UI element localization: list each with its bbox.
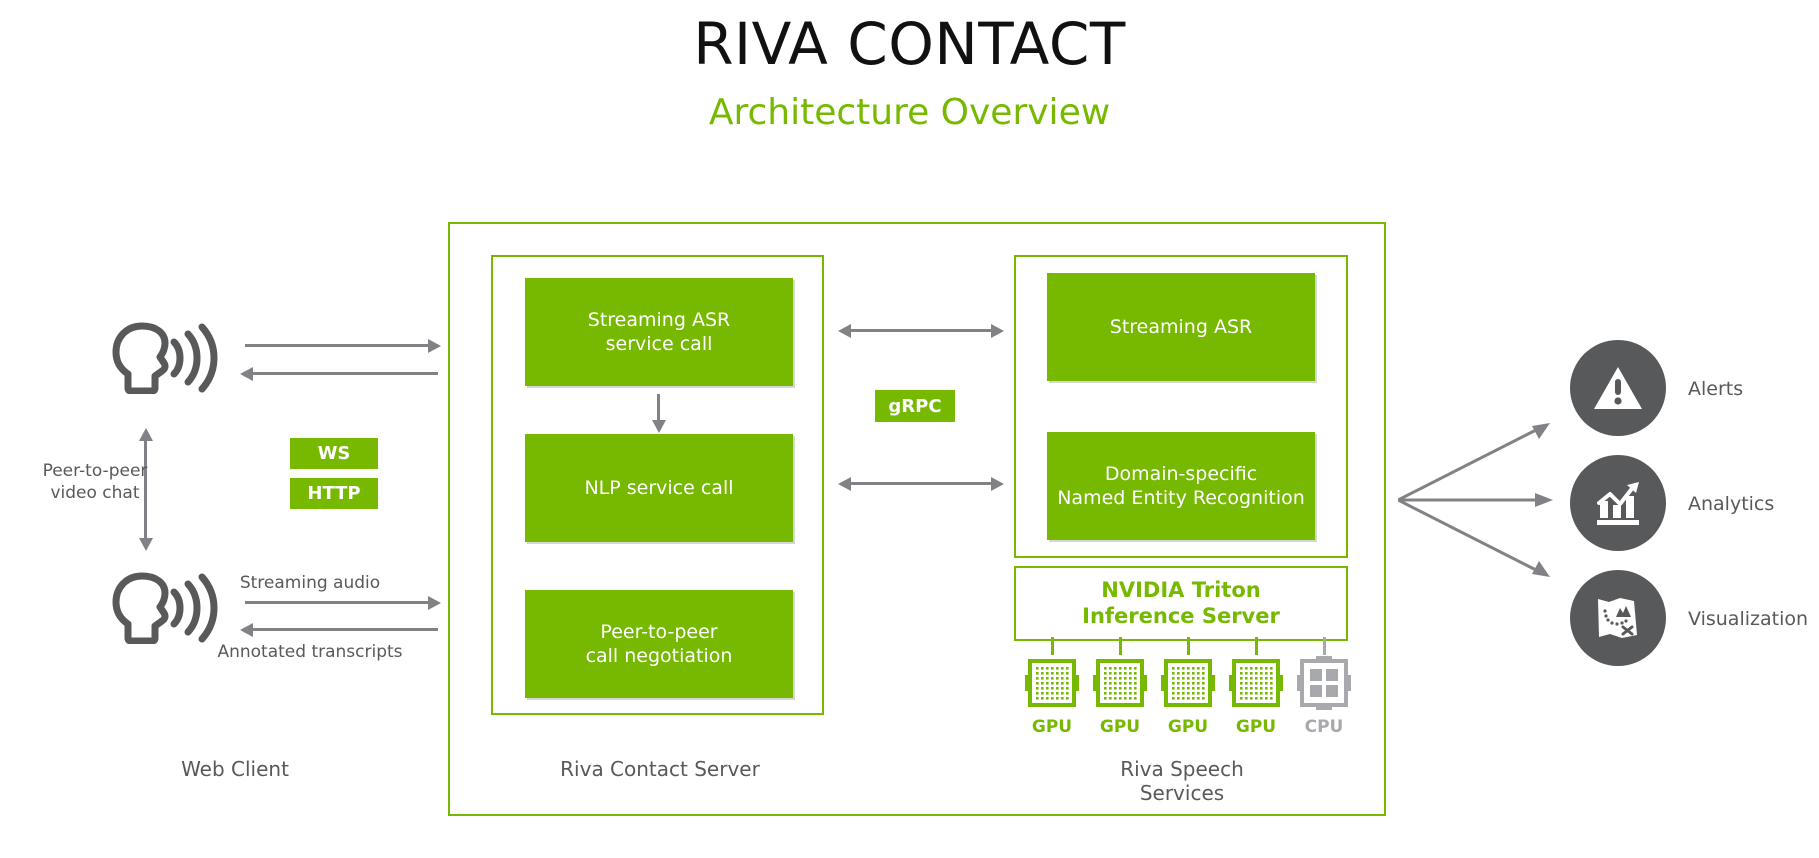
connector-cpu-1: [1323, 637, 1326, 655]
gpu-3-label: GPU: [1160, 717, 1216, 737]
streaming-asr-box: Streaming ASR: [1047, 273, 1315, 381]
ner-line2: Named Entity Recognition: [1057, 486, 1305, 510]
compute-unit-gpu-4: GPU: [1228, 655, 1284, 715]
domain-specific-ner-box: Domain-specific Named Entity Recognition: [1047, 432, 1315, 540]
gpu-2-label: GPU: [1092, 717, 1148, 737]
triton-line1: NVIDIA Triton: [1082, 578, 1280, 603]
streaming-asr-service-call-line2: service call: [588, 332, 730, 356]
page-title: RIVA CONTACT: [0, 14, 1819, 75]
arrow-head-up-peer-to-peer: [139, 428, 153, 441]
gpu-chip-icon-1: [1024, 655, 1080, 711]
nlp-service-call-line1: NLP service call: [584, 476, 733, 500]
p2p-call-negotiation-line1: Peer-to-peer: [586, 620, 733, 644]
arrow-line-asr-to-nlp: [657, 394, 660, 422]
streaming-asr-line1: Streaming ASR: [1110, 315, 1252, 339]
arrow-line-annotated-transcripts: [253, 628, 438, 631]
connector-gpu-2: [1119, 637, 1122, 655]
connector-gpu-4: [1255, 637, 1258, 655]
arrow-head-left-server-to-client: [240, 367, 253, 381]
alerts-circle-icon: [1570, 340, 1666, 436]
arrow-line-streaming-audio: [245, 601, 430, 604]
streaming-audio-label: Streaming audio: [215, 572, 405, 594]
peer-to-peer-label-line1: Peer-to-peer: [0, 460, 190, 482]
arrow-head-right-streaming-audio: [428, 596, 441, 610]
ws-chip: WS: [290, 438, 378, 469]
compute-unit-gpu-3: GPU: [1160, 655, 1216, 715]
cpu-1-label: CPU: [1296, 717, 1352, 737]
warning-triangle-icon: [1589, 359, 1647, 417]
gpu-chip-icon-4: [1228, 655, 1284, 711]
gpu-chip-icon-2: [1092, 655, 1148, 711]
arrow-head-right-grpc-asr: [991, 324, 1004, 338]
arrow-line-server-to-client: [253, 372, 438, 375]
nlp-service-call-box: NLP service call: [525, 434, 793, 542]
alerts-label: Alerts: [1688, 378, 1743, 401]
gpu-1-label: GPU: [1024, 717, 1080, 737]
connector-gpu-3: [1187, 637, 1190, 655]
cpu-chip-icon: [1296, 655, 1352, 711]
connector-gpu-1: [1051, 637, 1054, 655]
compute-units-row: GPU GPU: [1014, 655, 1348, 750]
visualization-circle-icon: [1570, 570, 1666, 666]
arrow-line-client-to-server: [245, 344, 430, 347]
zone-label-web-client: Web Client: [130, 757, 340, 781]
output-fanout-arrows: [1398, 420, 1558, 580]
treasure-map-icon: [1589, 589, 1647, 647]
arrow-head-right-grpc-nlp: [991, 477, 1004, 491]
nvidia-triton-inference-server-box: NVIDIA Triton Inference Server: [1014, 566, 1348, 641]
speaker-head-icon-bottom: [112, 572, 220, 648]
analytics-label: Analytics: [1688, 493, 1774, 516]
arrow-line-grpc-nlp: [850, 482, 993, 485]
streaming-asr-service-call-box: Streaming ASR service call: [525, 278, 793, 386]
annotated-transcripts-label: Annotated transcripts: [205, 641, 415, 663]
analytics-circle-icon: [1570, 455, 1666, 551]
zone-label-riva-speech-services: Riva Speech Services: [1077, 757, 1287, 805]
zone-label-riva-contact-server: Riva Contact Server: [555, 757, 765, 781]
http-chip: HTTP: [290, 478, 378, 509]
visualization-label: Visualization: [1688, 608, 1808, 631]
ner-line1: Domain-specific: [1057, 462, 1305, 486]
gpu-4-label: GPU: [1228, 717, 1284, 737]
arrow-head-down-peer-to-peer: [139, 538, 153, 551]
compute-unit-gpu-2: GPU: [1092, 655, 1148, 715]
page-subtitle: Architecture Overview: [0, 94, 1819, 132]
grpc-chip: gRPC: [875, 390, 955, 422]
speaker-head-icon-top: [112, 322, 220, 398]
arrow-line-grpc-asr: [850, 329, 993, 332]
compute-unit-cpu-1: CPU: [1296, 655, 1352, 715]
streaming-asr-service-call-line1: Streaming ASR: [588, 308, 730, 332]
arrow-head-right-client-to-server: [428, 339, 441, 353]
bar-chart-trend-icon: [1589, 474, 1647, 532]
arrow-head-down-asr-to-nlp: [652, 420, 666, 433]
arrow-head-left-annotated-transcripts: [240, 623, 253, 637]
gpu-chip-icon-3: [1160, 655, 1216, 711]
peer-to-peer-label-line2: video chat: [0, 482, 190, 504]
peer-to-peer-label: Peer-to-peer video chat: [0, 460, 190, 504]
peer-to-peer-call-negotiation-box: Peer-to-peer call negotiation: [525, 590, 793, 698]
p2p-call-negotiation-line2: call negotiation: [586, 644, 733, 668]
compute-unit-gpu-1: GPU: [1024, 655, 1080, 715]
triton-line2: Inference Server: [1082, 604, 1280, 629]
